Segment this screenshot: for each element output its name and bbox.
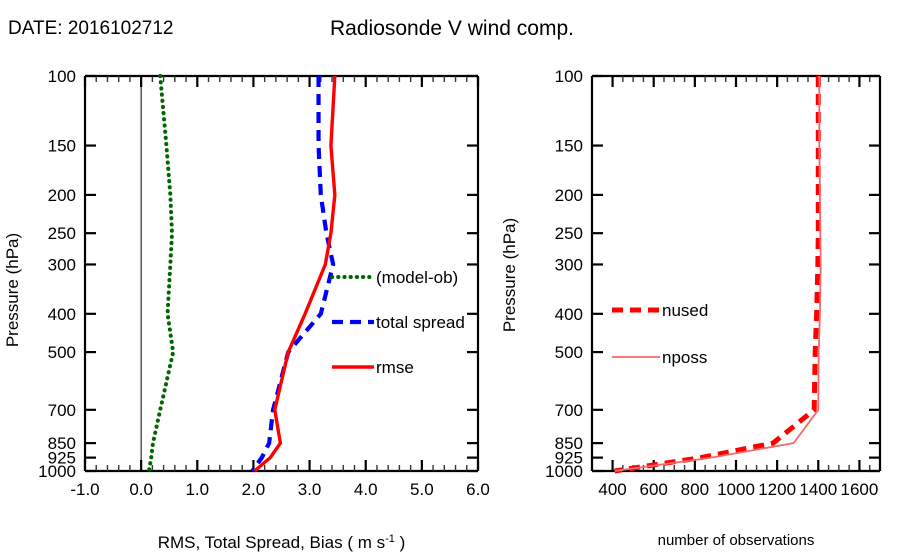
right-x-axis-label: number of observations (658, 532, 815, 549)
left-panel: -1.00.01.02.03.04.05.06.0 10015020025030… (3, 67, 490, 552)
right-axes-frame (592, 76, 880, 471)
x-tick-label: 3.0 (298, 480, 322, 499)
x-tick-label: 1600 (841, 480, 879, 499)
left-x-axis-label: RMS, Total Spread, Bias ( m s-1 ) (158, 533, 406, 552)
x-tick-label: 800 (681, 480, 709, 499)
y-tick-label: 300 (555, 255, 583, 274)
y-tick-label: 200 (48, 186, 76, 205)
series-line-nused (615, 76, 819, 471)
x-tick-label: 6.0 (466, 480, 490, 499)
x-tick-label: 1400 (799, 480, 837, 499)
right-legend: nusednposs (612, 301, 708, 367)
legend-label-nposs: nposs (662, 348, 707, 367)
y-tick-label: 400 (555, 305, 583, 324)
legend-label-rmse: rmse (376, 358, 414, 377)
y-tick-label: 100 (48, 67, 76, 86)
y-tick-label: 300 (48, 255, 76, 274)
series-line-nposs (615, 76, 821, 471)
y-tick-label: 150 (555, 137, 583, 156)
x-tick-label: 600 (640, 480, 668, 499)
x-tick-label: 4.0 (354, 480, 378, 499)
y-tick-label: 150 (48, 137, 76, 156)
y-tick-label: 1000 (38, 462, 76, 481)
x-tick-label: 400 (598, 480, 626, 499)
left-legend: (model-ob)total spreadrmse (332, 268, 465, 377)
y-tick-label: 100 (555, 67, 583, 86)
legend-label-totalspread: total spread (376, 313, 465, 332)
y-tick-label: 200 (555, 186, 583, 205)
y-tick-label: 500 (555, 343, 583, 362)
chart-page: DATE: 2016102712 Radiosonde V wind comp.… (0, 0, 900, 560)
right-y-axis-label: Pressure (hPa) (500, 218, 519, 332)
right-x-ticks: 4006008001000120014001600 (598, 76, 878, 499)
right-y-ticks: 1001502002503004005007008509251000 (545, 67, 880, 481)
y-tick-label: 1000 (545, 462, 583, 481)
left-data-series (149, 76, 335, 471)
x-tick-label: 1000 (717, 480, 755, 499)
series-line-rmse (255, 76, 335, 471)
right-panel: 4006008001000120014001600 10015020025030… (500, 67, 880, 549)
x-tick-label: -1.0 (70, 480, 99, 499)
y-tick-label: 250 (48, 224, 76, 243)
y-tick-label: 400 (48, 305, 76, 324)
x-tick-label: 0.0 (129, 480, 153, 499)
x-tick-label: 1200 (758, 480, 796, 499)
profile-plot-figure: -1.00.01.02.03.04.05.06.0 10015020025030… (0, 0, 900, 560)
legend-label-modelob: (model-ob) (376, 268, 458, 287)
x-tick-label: 2.0 (242, 480, 266, 499)
y-tick-label: 700 (48, 401, 76, 420)
x-tick-label: 1.0 (185, 480, 209, 499)
legend-label-nused: nused (662, 301, 708, 320)
left-y-axis-label: Pressure (hPa) (3, 233, 22, 347)
right-data-series (615, 76, 821, 471)
y-tick-label: 500 (48, 343, 76, 362)
y-tick-label: 250 (555, 224, 583, 243)
x-tick-label: 5.0 (410, 480, 434, 499)
y-tick-label: 700 (555, 401, 583, 420)
series-line-modelob (149, 76, 173, 471)
